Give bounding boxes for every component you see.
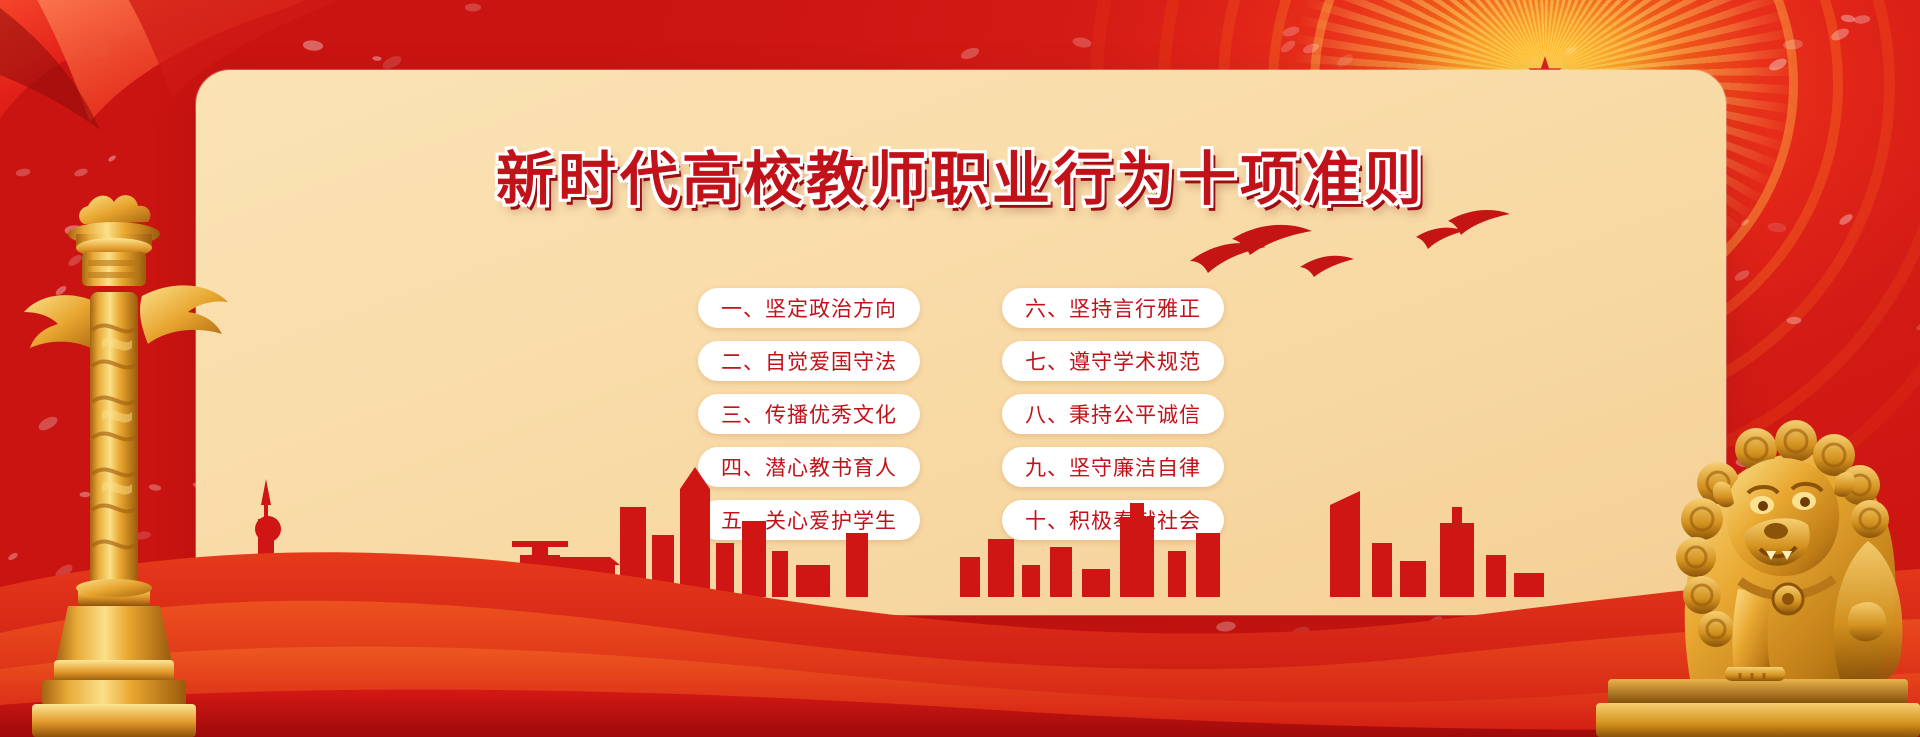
list-item[interactable]: 二、自觉爱国守法: [698, 341, 920, 381]
banner-root: ★ 新时代高校教师职业行为十项准则 一、坚定政治方向 二、自觉爱国守法 三、传播…: [0, 0, 1920, 737]
golden-guardian-lion-icon: [1590, 307, 1920, 737]
list-item[interactable]: 八、秉持公平诚信: [1002, 394, 1224, 434]
list-item[interactable]: 三、传播优秀文化: [698, 394, 920, 434]
flying-birds-icon: [1180, 195, 1600, 315]
golden-huabiao-column-icon: [10, 190, 240, 737]
list-item[interactable]: 七、遵守学术规范: [1002, 341, 1224, 381]
list-item[interactable]: 一、坚定政治方向: [698, 288, 920, 328]
